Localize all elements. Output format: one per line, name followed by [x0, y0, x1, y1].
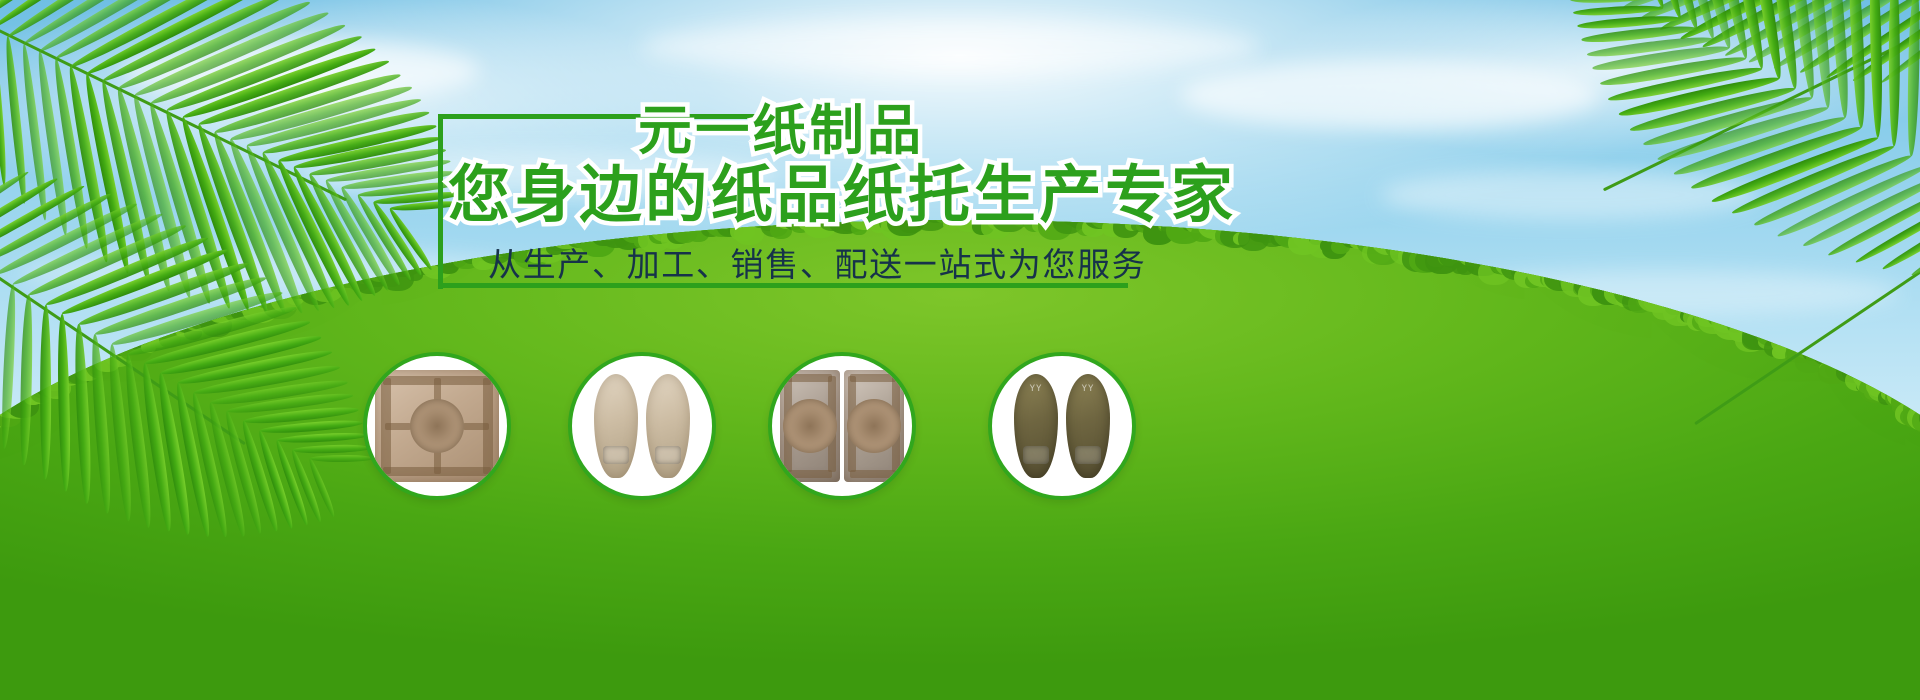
molded-pulp-tray-square-image — [375, 370, 499, 482]
shoe-insert-left — [594, 374, 638, 478]
tray-body-a — [780, 370, 840, 482]
headline-block: 元一纸制品 您身边的纸品纸托生产专家 — [438, 96, 1138, 224]
molded-pulp-tray-pair-image — [780, 370, 904, 482]
product-circle-3[interactable] — [768, 352, 916, 500]
cloud — [1180, 60, 1600, 130]
product-showcase: YY YY — [0, 352, 1920, 522]
product-circle-1[interactable] — [363, 352, 511, 500]
frame-left-rule — [438, 114, 443, 289]
promo-banner: 元一纸制品 您身边的纸品纸托生产专家 从生产、加工、销售、配送一站式为您服务 — [0, 0, 1920, 700]
shoe-insert-right — [646, 374, 690, 478]
insert-mark: YY — [1030, 384, 1043, 394]
headline-line-2: 您身边的纸品纸托生产专家 — [448, 144, 1237, 234]
molded-pulp-shoe-inserts-dark-image: YY YY — [1000, 370, 1124, 482]
cloud — [640, 20, 1260, 74]
product-circle-4[interactable]: YY YY — [988, 352, 1136, 500]
product-circle-2[interactable] — [568, 352, 716, 500]
tray-body — [375, 370, 499, 482]
subtitle-text: 从生产、加工、销售、配送一站式为您服务 — [488, 238, 1108, 286]
insert-mark: YY — [1082, 384, 1095, 394]
shoe-insert-left: YY — [1014, 374, 1058, 478]
tray-body-b — [844, 370, 904, 482]
molded-pulp-shoe-inserts-light-image — [580, 370, 704, 482]
shoe-insert-right: YY — [1066, 374, 1110, 478]
